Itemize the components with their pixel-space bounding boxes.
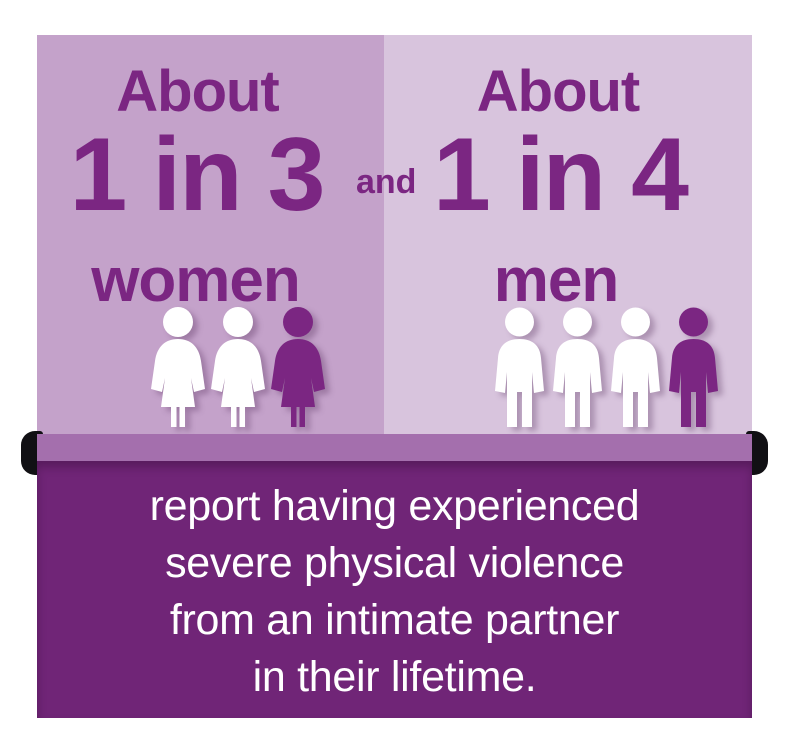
figure-row-men: [492, 306, 721, 428]
male-figure-icon-highlighted: [666, 306, 721, 428]
about-label-women: About: [37, 63, 384, 121]
conjunction-and: and: [356, 163, 416, 202]
male-figure-icon: [492, 306, 547, 428]
statement-line: report having experienced: [150, 478, 640, 535]
female-figure-icon: [209, 306, 267, 428]
ratio-value-women: 1 in 3: [37, 123, 384, 227]
figure-row-women: [149, 306, 327, 428]
about-label-men: About: [384, 63, 752, 121]
statement-line: in their lifetime.: [253, 649, 537, 706]
female-figure-icon-highlighted: [269, 306, 327, 428]
statement-block: report having experienced severe physica…: [37, 461, 752, 718]
group-label-women: women: [37, 250, 384, 312]
ratio-value-men: 1 in 4: [384, 123, 752, 227]
infographic-root: About 1 in 3 women About 1 in 4 men: [0, 0, 789, 756]
male-figure-icon: [608, 306, 663, 428]
ribbon-band: [37, 434, 752, 461]
stat-panel-men: About 1 in 4 men: [384, 35, 752, 434]
statement-line: from an intimate partner: [170, 592, 619, 649]
statement-line: severe physical violence: [165, 535, 624, 592]
group-label-men: men: [384, 250, 752, 312]
male-figure-icon: [550, 306, 605, 428]
stat-panel-women: About 1 in 3 women: [37, 35, 384, 434]
female-figure-icon: [149, 306, 207, 428]
